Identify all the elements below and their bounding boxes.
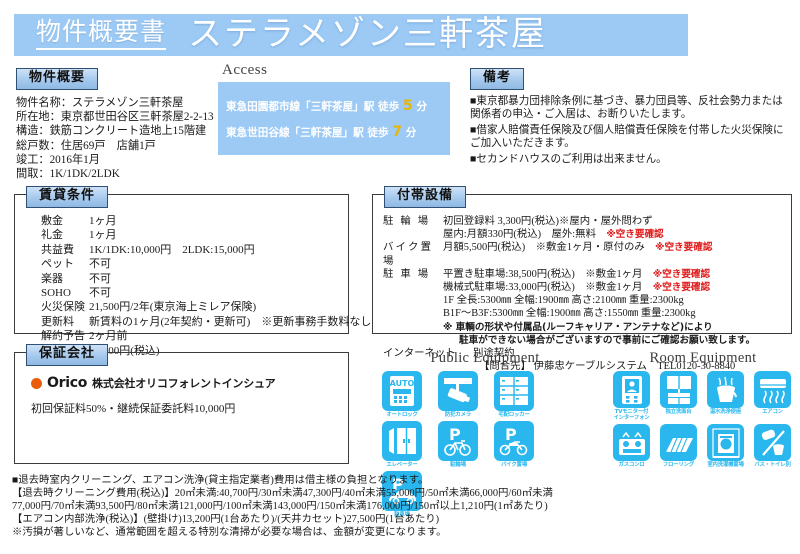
row-key: 楽器 (29, 273, 85, 287)
orico-logo: Orico 株式会社オリコフォレントインシュア (31, 375, 275, 391)
facility-car-note-2: 駐車ができない場合がございますので事前にご確認お願い致します。 (383, 334, 787, 347)
list-item: 所在地：東京都世田谷区三軒茶屋2-2-13 (16, 110, 231, 124)
table-row: 敷金 1ヶ月 (29, 215, 371, 229)
equipment-label: バス・トイレ別 (750, 462, 795, 468)
property-overview-list: 物件名称：ステラメゾン三軒茶屋 所在地：東京都世田谷区三軒茶屋2-2-13 構造… (16, 96, 231, 181)
access-title: Access (222, 62, 458, 79)
table-row: 更新料 新賃料の1ヶ月(2年契約・更新可) ※更新事務手数料なし (29, 316, 371, 330)
row-key: 敷金 (29, 215, 85, 229)
access-box: 東急田園都市線「三軒茶屋」駅 徒歩 5 分 東急世田谷線「三軒茶屋」駅 徒歩 7… (218, 82, 450, 155)
row-key: 駐 車 場 (383, 268, 443, 281)
row-key: 火災保険 (29, 301, 85, 315)
row-key: 解約予告 (29, 330, 85, 344)
equipment-label: 駐輪場 (432, 462, 484, 468)
table-row: 火災保険 21,500円/2年(東京海上ミレア保険) (29, 301, 371, 315)
list-item: 竣工：2016年1月 (16, 153, 231, 167)
table-row: 礼金 1ヶ月 (29, 229, 371, 243)
flooring-icon (660, 424, 697, 461)
table-row: 共益費 1K/1DK:10,000円 2LDK:15,000円 (29, 244, 371, 258)
facility-row-bicycle: 駐 輪 場 初回登録料 3,300円(税込)※屋内・屋外問わず (383, 215, 787, 228)
equipment-item-bicycle-parking: P 駐輪場 (432, 421, 484, 468)
row-key: SOHO (29, 287, 85, 301)
washlet-icon (707, 371, 744, 408)
document-type-title: 物件概要書 (36, 20, 166, 49)
row-value: 不可 (85, 273, 371, 287)
equipment-item-separate-bath-toilet: バス・トイレ別 (750, 424, 795, 468)
equipment-item-motorbike-parking: P バイク置場 (488, 421, 540, 468)
facility-row-motorbike: バイク置場 月額5,500円(税込) ※敷金1ヶ月・原付のみ ※空き要確認 (383, 241, 787, 267)
row-key: ペット (29, 258, 85, 272)
footer-line: 【退去時クリーニング費用(税込)】20㎡未満:40,700円/30㎡未満47,3… (12, 487, 792, 500)
property-overview-section: 物件概要 物件名称：ステラメゾン三軒茶屋 所在地：東京都世田谷区三軒茶屋2-2-… (16, 68, 231, 181)
row-key: 更新料 (29, 316, 85, 330)
equipment-item-gas-stove: ガスコンロ (609, 424, 654, 468)
room-equipment-grid: TVモニター付 インターフォン 独立洗面台 温水洗浄便座 エアコン (608, 371, 798, 472)
row-value: 屋内:月額330円(税込) 屋外:無料 (443, 229, 606, 240)
property-name-title: ステラメゾン三軒茶屋 (188, 18, 547, 52)
facility-row-car: 駐 車 場 平置き駐車場:38,500円(税込) ※敷金1ヶ月 ※空き要確認 (383, 268, 787, 281)
access-minutes-unit: 分 (402, 127, 416, 139)
row-value-text: 平置き駐車場:38,500円(税込) ※敷金1ヶ月 (443, 269, 653, 280)
access-line: 東急田園都市線「三軒茶屋」駅 徒歩 5 分 (226, 98, 450, 114)
access-line: 東急世田谷線「三軒茶屋」駅 徒歩 7 分 (226, 124, 450, 140)
equipment-label: 防犯カメラ (432, 412, 484, 418)
svg-text:P: P (505, 425, 517, 444)
equipment-label: エアコン (750, 409, 795, 415)
access-minutes-unit: 分 (413, 101, 427, 113)
row-key: 礼金 (29, 229, 85, 243)
room-equipment-section: Room Equipment TVモニター付 インターフォン 独立洗面台 温水洗… (608, 350, 798, 472)
equipment-label: 温水洗浄便座 (703, 409, 748, 415)
row-value: 1K/1DK:10,000円 2LDK:15,000円 (85, 244, 371, 258)
equipment-label: ガスコンロ (609, 462, 654, 468)
rent-conditions-badge: 賃貸条件 (26, 186, 108, 208)
auto-lock-icon: AUTO (382, 371, 422, 411)
video-intercom-icon (613, 371, 650, 408)
remarks-item: ■東京都暴力団排除条例に基づき、暴力団員等、反社会勢力または関係者の申込・ご入居… (470, 95, 792, 122)
facility-car-dimensions-1f: 1F 全長:5300㎜ 全幅:1900㎜ 高さ:2100㎜ 重量:2300kg (383, 294, 787, 307)
equipment-item-air-conditioner: エアコン (750, 371, 795, 421)
room-equipment-title: Room Equipment (608, 350, 798, 367)
equipment-label: 宅配ロッカー (488, 412, 540, 418)
availability-warning: ※空き要確認 (655, 242, 712, 253)
equipment-item-washlet: 温水洗浄便座 (703, 371, 748, 421)
remarks-badge: 備考 (470, 68, 524, 90)
equipment-label: 独立洗面台 (656, 409, 701, 415)
facilities-badge: 付帯設備 (384, 186, 466, 208)
table-row: 楽器 不可 (29, 273, 371, 287)
availability-warning: ※空き要確認 (653, 282, 710, 293)
row-value: 新賃料の1ヶ月(2年契約・更新可) ※更新事務手数料なし (85, 316, 371, 330)
equipment-label: エレベーター (376, 462, 428, 468)
access-minutes: 7 (392, 124, 402, 140)
svg-text:P: P (449, 425, 461, 444)
row-value: 1ヶ月 (85, 229, 371, 243)
equipment-label: フローリング (656, 462, 701, 468)
facility-car-dimensions-b1f: B1F～B3F:5300㎜ 全幅:1900㎜ 高さ:1550㎜ 重量:2300k… (383, 307, 787, 320)
equipment-label: バイク置場 (488, 462, 540, 468)
footer-line: ■退去時室内クリーニング、エアコン洗浄(貸主指定業者)費用は借主様の負担となりま… (12, 474, 792, 487)
access-section: Access 東急田園都市線「三軒茶屋」駅 徒歩 5 分 東急世田谷線「三軒茶屋… (218, 62, 458, 155)
orico-logo-text: Orico (47, 375, 87, 391)
elevator-icon (382, 421, 422, 461)
property-summary-sheet: 物件概要書 ステラメゾン三軒茶屋 物件概要 物件名称：ステラメゾン三軒茶屋 所在… (0, 0, 800, 554)
equipment-item-delivery-locker: 宅配ロッカー (488, 371, 540, 418)
row-value: 平置き駐車場:38,500円(税込) ※敷金1ヶ月 ※空き要確認 (443, 268, 787, 281)
public-equipment-title: Public Equipment (374, 350, 596, 367)
equipment-item-video-intercom: TVモニター付 インターフォン (609, 371, 654, 421)
equipment-label: 室内洗濯機置場 (703, 462, 748, 468)
row-key: バイク置場 (383, 241, 443, 267)
footer-notes: ■退去時室内クリーニング、エアコン洗浄(貸主指定業者)費用は借主様の負担となりま… (12, 474, 792, 539)
remarks-item: ■セカンドハウスのご利用は出来ません。 (470, 153, 792, 166)
gas-stove-icon (613, 424, 650, 461)
availability-warning: ※空き要確認 (606, 229, 663, 240)
equipment-label: TVモニター付 インターフォン (609, 409, 654, 421)
guarantor-note: 初回保証料50%・継続保証委託料10,000円 (31, 400, 275, 416)
footer-line: 77,000円/70㎡未満93,500円/80㎡未満121,000円/100㎡未… (12, 500, 792, 513)
equipment-item-vanity-sink: 独立洗面台 (656, 371, 701, 421)
row-value: 2ヶ月前 (85, 330, 371, 344)
orico-dot-icon (31, 378, 42, 389)
row-value: 初回登録料 3,300円(税込)※屋内・屋外問わず (443, 215, 787, 228)
remarks-item: ■借家人賠償責任保険及び個人賠償責任保険を付帯した火災保険にご加入いただきます。 (470, 124, 792, 151)
guarantor-panel: Orico 株式会社オリコフォレントインシュア 初回保証料50%・継続保証委託料… (14, 352, 349, 464)
equipment-item-security-camera: 防犯カメラ (432, 371, 484, 418)
list-item: 間取：1K/1DK/2LDK (16, 167, 231, 181)
row-key: 駐 輪 場 (383, 215, 443, 228)
row-value: 月額5,500円(税込) ※敷金1ヶ月・原付のみ ※空き要確認 (443, 241, 787, 267)
row-value: 不可 (85, 258, 371, 272)
rent-conditions-panel: 敷金 1ヶ月 礼金 1ヶ月 共益費 1K/1DK:10,000円 2LDK:15… (14, 194, 349, 334)
facility-car-note-1: ※ 車輌の形状や付属品(ルーフキャリア・アンテナなど)により (383, 321, 787, 334)
separate-bath-toilet-icon (754, 424, 791, 461)
motorbike-parking-icon: P (494, 421, 534, 461)
row-value: 1ヶ月 (85, 215, 371, 229)
list-item: 総戸数：住居69戸 店舗1戸 (16, 139, 231, 153)
row-value-text: 月額5,500円(税込) ※敷金1ヶ月・原付のみ (443, 242, 655, 253)
table-row: 解約予告 2ヶ月前 (29, 330, 371, 344)
access-minutes: 5 (403, 98, 413, 114)
security-camera-icon (438, 371, 478, 411)
row-value: 不可 (85, 287, 371, 301)
equipment-item-washing-machine: 室内洗濯機置場 (703, 424, 748, 468)
list-item: 構造：鉄筋コンクリート造地上15階建 (16, 124, 231, 138)
access-line-text: 東急田園都市線「三軒茶屋」駅 徒歩 (226, 101, 403, 113)
table-row: ペット 不可 (29, 258, 371, 272)
guarantor-company-name: 株式会社オリコフォレントインシュア (92, 375, 275, 391)
property-overview-badge: 物件概要 (16, 68, 98, 90)
access-line-text: 東急世田谷線「三軒茶屋」駅 徒歩 (226, 127, 392, 139)
washing-machine-icon (707, 424, 744, 461)
svg-text:AUTO: AUTO (390, 379, 415, 388)
equipment-item-auto-lock: AUTO オートロック (376, 371, 428, 418)
list-item: 物件名称：ステラメゾン三軒茶屋 (16, 96, 231, 110)
bicycle-parking-icon: P (438, 421, 478, 461)
rent-conditions-table: 敷金 1ヶ月 礼金 1ヶ月 共益費 1K/1DK:10,000円 2LDK:15… (29, 215, 371, 359)
equipment-label: オートロック (376, 412, 428, 418)
facility-row-car-detail: 機械式駐車場:33,000円(税込) ※敷金1ヶ月 ※空き要確認 (383, 281, 787, 294)
facilities-panel: 駐 輪 場 初回登録料 3,300円(税込)※屋内・屋外問わず 屋内:月額330… (372, 194, 792, 334)
availability-warning: ※空き要確認 (653, 269, 710, 280)
row-value: 21,500円/2年(東京海上ミレア保険) (85, 301, 371, 315)
equipment-item-flooring: フローリング (656, 424, 701, 468)
row-key: 共益費 (29, 244, 85, 258)
remarks-section: 備考 ■東京都暴力団排除条例に基づき、暴力団員等、反社会勢力または関係者の申込・… (470, 68, 792, 168)
guarantor-content: Orico 株式会社オリコフォレントインシュア 初回保証料50%・継続保証委託料… (31, 375, 275, 416)
table-row: SOHO 不可 (29, 287, 371, 301)
footer-line: ※汚損が著しいなど、通常範囲を超える特別な清掃が必要な場合は、金額が変更になりま… (12, 526, 792, 539)
title-bar: 物件概要書 ステラメゾン三軒茶屋 (14, 14, 688, 56)
footer-line: 【エアコン内部洗浄(税込)】(壁掛け)13,200円(1台あたり)/(天井カセッ… (12, 513, 792, 526)
delivery-locker-icon (494, 371, 534, 411)
facility-row-bicycle-detail: 屋内:月額330円(税込) 屋外:無料 ※空き要確認 (383, 228, 787, 241)
air-conditioner-icon (754, 371, 791, 408)
guarantor-badge: 保証会社 (26, 344, 108, 366)
row-value: 機械式駐車場:33,000円(税込) ※敷金1ヶ月 (443, 282, 653, 293)
equipment-item-elevator: エレベーター (376, 421, 428, 468)
vanity-sink-icon (660, 371, 697, 408)
